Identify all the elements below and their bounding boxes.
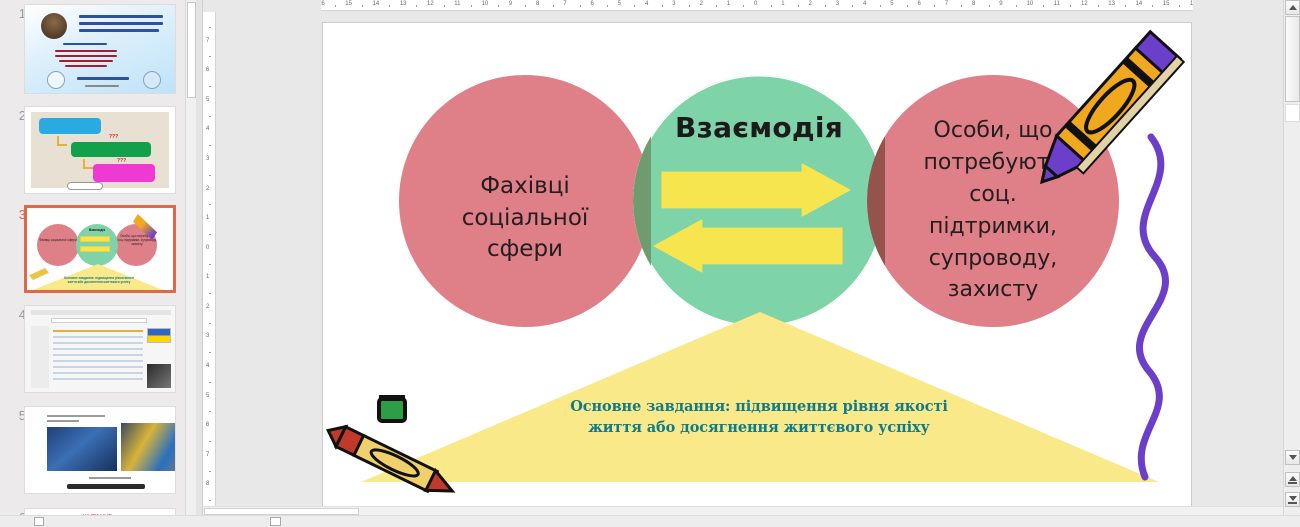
ruler-tick-mark xyxy=(989,5,990,7)
ruler-tick-label: 5 xyxy=(890,1,893,7)
ruler-tick-label: 4 xyxy=(206,126,209,132)
ruler-tick-label: 4 xyxy=(206,363,209,369)
ruler-tick-label: 6 xyxy=(206,422,209,428)
ruler-tick-mark xyxy=(209,352,211,353)
scroll-up-button[interactable] xyxy=(1285,0,1300,15)
elbow-connector xyxy=(83,159,93,169)
elbow-connector xyxy=(57,136,67,146)
thumbnail-preview-3[interactable]: Фахівці соціальної сфери Взаємодія Особи… xyxy=(24,205,176,293)
ruler-tick-mark xyxy=(1098,5,1099,7)
ruler-tick-mark xyxy=(471,5,472,7)
caption-line xyxy=(47,415,105,417)
view-slide-sorter-icon[interactable] xyxy=(270,517,281,526)
scrollbar-track-highlight[interactable] xyxy=(1285,104,1300,122)
ruler-tick-label: 14 xyxy=(1136,1,1143,7)
ruler-tick-label: 2 xyxy=(206,304,209,310)
ruler-tick-mark xyxy=(209,234,211,235)
ruler-tick-label: 16 xyxy=(321,1,325,7)
ruler-tick-label: 3 xyxy=(836,1,839,7)
ruler-tick-label: 11 xyxy=(1054,1,1060,7)
ruler-tick-mark xyxy=(1070,5,1071,7)
ruler-tick-label: 5 xyxy=(206,393,209,399)
subtitle-line xyxy=(55,55,117,57)
ruler-tick-mark xyxy=(209,27,211,28)
ruler-tick-label: 4 xyxy=(863,1,866,7)
scrollbar-thumb[interactable] xyxy=(1285,16,1300,102)
ruler-tick-mark xyxy=(961,5,962,7)
ruler-tick-mark xyxy=(743,5,744,7)
ruler-tick-mark xyxy=(416,5,417,7)
ruler-tick-label: 16 xyxy=(1190,1,1193,7)
flow-box-top xyxy=(39,118,101,134)
vertical-ruler[interactable]: 876543210123456789 xyxy=(203,12,216,515)
ruler-tick-mark xyxy=(209,293,211,294)
ruler-tick-mark xyxy=(444,5,445,7)
ruler-tick-label: 7 xyxy=(945,1,948,7)
ruler-tick-label: 12 xyxy=(1081,1,1088,7)
mini-title: Взаємодія xyxy=(79,228,115,232)
ruler-tick-label: 13 xyxy=(400,1,407,7)
ruler-tick-label: 8 xyxy=(206,12,209,14)
title-line xyxy=(79,15,163,18)
subtitle-line xyxy=(65,65,107,67)
title-line xyxy=(79,22,163,25)
thumbnail-preview-2[interactable]: ??? ??? xyxy=(24,106,176,194)
thumbnail-slide-4[interactable]: 4 xyxy=(0,305,196,397)
seal-icon xyxy=(47,71,65,89)
mini-arrow-left xyxy=(80,246,110,252)
caption-line xyxy=(47,420,79,422)
chevron-down-icon xyxy=(1289,455,1297,460)
ruler-tick-mark xyxy=(335,5,336,7)
ruler-tick-mark xyxy=(209,145,211,146)
question-mark: ??? xyxy=(109,134,118,140)
browser-toolbar xyxy=(31,310,171,315)
ruler-tick-label: 12 xyxy=(427,1,434,7)
ruler-tick-mark xyxy=(209,86,211,87)
photo-right xyxy=(121,423,176,471)
table-row xyxy=(53,372,143,374)
ruler-tick-mark xyxy=(607,5,608,7)
ruler-tick-label: 1 xyxy=(206,215,209,221)
ruler-tick-mark xyxy=(1152,5,1153,7)
ruler-tick-mark xyxy=(662,5,663,7)
ruler-tick-label: 9 xyxy=(999,1,1002,7)
thumbnail-preview-1[interactable] xyxy=(24,4,176,94)
previous-slide-button[interactable] xyxy=(1285,472,1300,487)
ruler-tick-mark xyxy=(1179,5,1180,7)
table-row xyxy=(53,354,143,356)
ruler-tick-label: 1 xyxy=(781,1,784,7)
triangle-caption-text[interactable]: Основне завдання: підвищення рівня якост… xyxy=(509,397,1009,438)
thumbnail-slide-2[interactable]: 2 ??? ??? xyxy=(0,106,196,198)
view-normal-icon[interactable] xyxy=(34,517,44,526)
ruler-tick-mark xyxy=(209,56,211,57)
thumbnail-slide-5[interactable]: 5 xyxy=(0,406,196,498)
table-row xyxy=(53,336,143,338)
ruler-tick-label: 1 xyxy=(727,1,730,7)
ruler-tick-mark xyxy=(209,411,211,412)
mini-triangle-text: Основне завдання: підвищення рівня якост… xyxy=(61,276,137,284)
thumbnail-scrollbar-thumb[interactable] xyxy=(187,2,196,98)
thumbnail-photo xyxy=(147,364,171,388)
ruler-tick-mark xyxy=(716,5,717,7)
double-chevron-down-icon xyxy=(1288,496,1297,504)
scroll-down-button[interactable] xyxy=(1285,450,1300,465)
portrait-placeholder-icon xyxy=(41,13,67,39)
slide-editor-area[interactable]: Фахівці соціальної сфери Взаємодія Особи… xyxy=(216,12,1274,515)
ruler-tick-mark xyxy=(209,382,211,383)
footer-line xyxy=(85,85,119,87)
next-slide-button[interactable] xyxy=(1285,492,1300,507)
ruler-tick-mark xyxy=(209,500,211,501)
table-row xyxy=(53,330,143,332)
flow-box-middle xyxy=(71,142,151,157)
ruler-tick-mark xyxy=(209,175,211,176)
ruler-tick-mark xyxy=(209,441,211,442)
ruler-tick-label: 11 xyxy=(454,1,460,7)
ruler-tick-label: 6 xyxy=(206,67,209,73)
mini-arrow-right xyxy=(80,236,110,242)
crayon-green-icon xyxy=(371,393,417,433)
ruler-tick-label: 13 xyxy=(1108,1,1115,7)
ruler-tick-label: 1 xyxy=(206,274,209,280)
table-row xyxy=(53,366,143,368)
table-row xyxy=(53,342,143,344)
thumbnail-number-4: 4 xyxy=(6,307,26,322)
center-title-text[interactable]: Взаємодія xyxy=(641,111,877,144)
chevron-up-icon xyxy=(1289,5,1297,10)
ruler-tick-mark xyxy=(880,5,881,7)
table-row xyxy=(53,360,143,362)
ruler-tick-mark xyxy=(209,204,211,205)
ruler-tick-label: 7 xyxy=(206,452,209,458)
ruler-tick-mark xyxy=(209,471,211,472)
ruler-tick-mark xyxy=(634,5,635,7)
slide-canvas[interactable]: Фахівці соціальної сфери Взаємодія Особи… xyxy=(322,22,1192,512)
crayon-top-right-icon xyxy=(1023,23,1192,213)
ruler-tick-label: 15 xyxy=(1163,1,1170,7)
ruler-tick-mark xyxy=(209,264,211,265)
ruler-tick-label: 10 xyxy=(482,1,489,7)
slide-vertical-scrollbar[interactable] xyxy=(1283,0,1300,527)
thumbnail-preview-4[interactable] xyxy=(24,305,176,393)
mini-text-left: Фахівці соціальної сфери xyxy=(37,238,79,242)
thumbnail-number-5: 5 xyxy=(6,408,26,423)
ruler-tick-mark xyxy=(1125,5,1126,7)
ruler-tick-label: 3 xyxy=(672,1,675,7)
ruler-tick-mark xyxy=(209,116,211,117)
ruler-tick-mark xyxy=(689,5,690,7)
ruler-tick-label: 3 xyxy=(206,156,209,162)
ruler-tick-mark xyxy=(553,5,554,7)
ruler-tick-mark xyxy=(934,5,935,7)
thumbnail-number-3: 3 xyxy=(6,207,26,222)
ruler-tick-label: 4 xyxy=(645,1,648,7)
mini-circle-left xyxy=(37,224,79,266)
thumbnail-number-2: 2 xyxy=(6,108,26,123)
ruler-tick-mark xyxy=(209,323,211,324)
ruler-tick-label: 8 xyxy=(206,481,209,487)
media-controls xyxy=(67,484,145,489)
ruler-tick-label: 9 xyxy=(509,1,512,7)
emblem-icon xyxy=(143,71,161,89)
ruler-tick-mark xyxy=(1016,5,1017,7)
ruler-tick-label: 2 xyxy=(809,1,812,7)
ruler-tick-mark xyxy=(907,5,908,7)
ruler-tick-label: 5 xyxy=(206,97,209,103)
subtitle-line xyxy=(55,50,117,52)
flow-box-bottom xyxy=(93,164,155,182)
horizontal-scrollbar[interactable] xyxy=(203,506,1283,515)
ruler-tick-mark xyxy=(771,5,772,7)
ruler-tick-label: 0 xyxy=(206,245,209,251)
crayon-bottom-left-icon xyxy=(322,423,458,503)
ruler-tick-label: 10 xyxy=(1027,1,1034,7)
browser-sidebar xyxy=(31,326,49,388)
ruler-tick-label: 2 xyxy=(700,1,703,7)
browser-address-bar xyxy=(51,318,147,323)
thumbnail-slide-1[interactable]: 1 xyxy=(0,4,196,96)
footer-line xyxy=(77,77,129,80)
ruler-tick-mark xyxy=(852,5,853,7)
ruler-tick-label: 7 xyxy=(206,38,209,44)
thumbnail-slide-3[interactable]: 3 Фахівці соціальної сфери Взаємодія Осо… xyxy=(0,205,196,297)
photo-left xyxy=(47,427,117,471)
ruler-tick-label: 8 xyxy=(972,1,975,7)
subtitle-line xyxy=(59,60,113,62)
ruler-tick-label: 15 xyxy=(345,1,352,7)
left-circle-text[interactable]: Фахівці соціальної сфери xyxy=(413,171,637,266)
ruler-tick-label: 6 xyxy=(591,1,594,7)
horizontal-ruler[interactable]: 1615141312111098765432101234567891011121… xyxy=(321,0,1193,11)
ruler-tick-mark xyxy=(798,5,799,7)
ruler-tick-label: 6 xyxy=(918,1,921,7)
ruler-tick-label: 3 xyxy=(206,333,209,339)
caption-line xyxy=(89,477,131,479)
ukraine-flag-icon xyxy=(147,328,171,343)
ruler-tick-mark xyxy=(580,5,581,7)
flow-tag xyxy=(67,182,103,190)
thumbnail-pane-scrollbar[interactable] xyxy=(185,0,196,527)
ruler-tick-label: 0 xyxy=(754,1,757,7)
status-bar[interactable] xyxy=(0,515,1300,527)
ruler-tick-label: 5 xyxy=(618,1,621,7)
table-row xyxy=(53,348,143,350)
ruler-tick-mark xyxy=(525,5,526,7)
ruler-tick-mark xyxy=(362,5,363,7)
ruler-tick-mark xyxy=(825,5,826,7)
ruler-tick-mark xyxy=(389,5,390,7)
slide-thumbnail-panel[interactable]: 1 2 ??? ??? xyxy=(0,0,196,527)
horizontal-scrollbar-thumb[interactable] xyxy=(204,508,359,515)
ruler-tick-label: 8 xyxy=(536,1,539,7)
title-line xyxy=(79,29,159,32)
author-line xyxy=(63,43,107,45)
double-chevron-up-icon xyxy=(1288,476,1297,484)
table-row xyxy=(53,378,143,380)
thumbnail-number-1: 1 xyxy=(6,6,26,21)
thumbnail-preview-5[interactable] xyxy=(24,406,176,494)
ruler-tick-label: 14 xyxy=(373,1,380,7)
ruler-tick-label: 7 xyxy=(563,1,566,7)
ruler-tick-mark xyxy=(498,5,499,7)
pane-splitter[interactable] xyxy=(196,0,203,527)
mini-crayon-bottom xyxy=(29,268,49,280)
ruler-tick-mark xyxy=(1043,5,1044,7)
ruler-tick-label: 2 xyxy=(206,186,209,192)
